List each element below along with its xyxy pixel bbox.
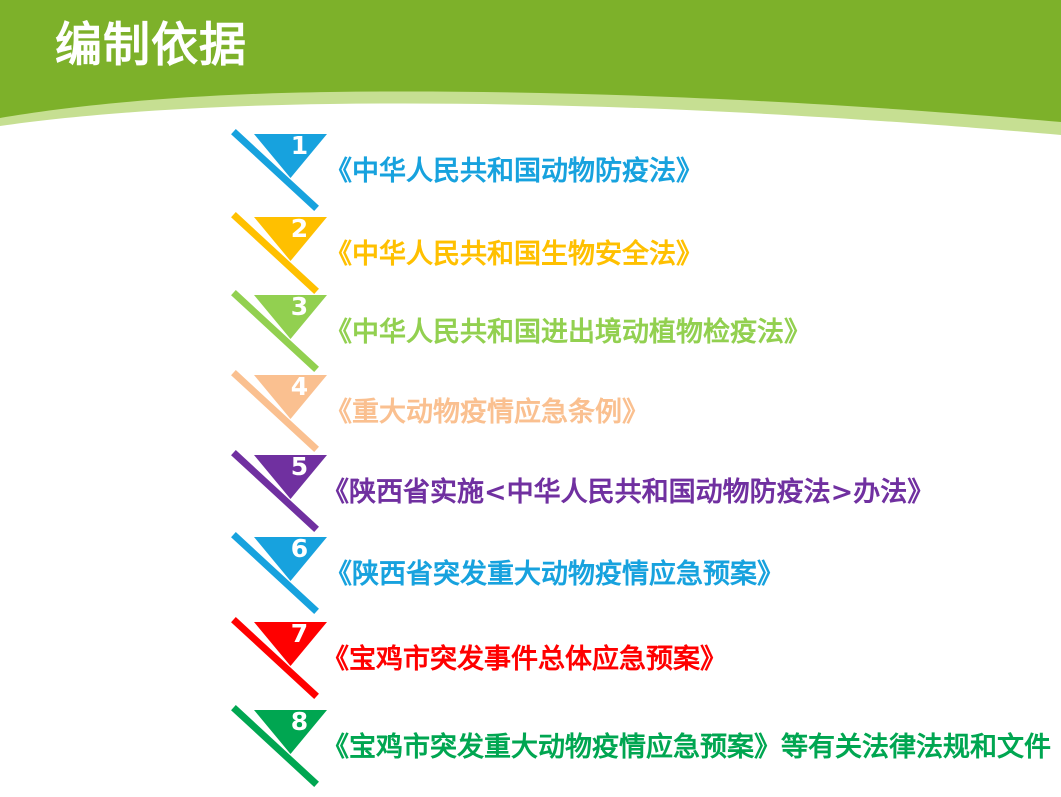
- list-item[interactable]: 5 《陕西省实施<中华人民共和国动物防疫法>办法》: [0, 451, 1061, 534]
- item-marker: 5: [228, 451, 332, 533]
- list-item[interactable]: 2 《中华人民共和国生物安全法》: [0, 213, 1061, 296]
- marker-shape: [228, 130, 332, 212]
- page-title: 编制依据: [55, 21, 247, 70]
- marker-shape: [228, 213, 332, 295]
- marker-shape: [228, 706, 332, 788]
- header-banner: 编制依据: [0, 0, 1061, 135]
- marker-shape: [228, 618, 332, 700]
- item-label: 《陕西省实施<中华人民共和国动物防疫法>办法》: [322, 478, 934, 508]
- item-marker: 6: [228, 533, 332, 615]
- list-item[interactable]: 8 《宝鸡市突发重大动物疫情应急预案》等有关法律法规和文件: [0, 706, 1061, 789]
- item-marker: 4: [228, 371, 332, 453]
- item-marker: 2: [228, 213, 332, 295]
- item-label: 《宝鸡市突发事件总体应急预案》: [322, 645, 727, 675]
- item-marker: 8: [228, 706, 332, 788]
- item-label: 《中华人民共和国进出境动植物检疫法》: [325, 318, 811, 348]
- list-item[interactable]: 7 《宝鸡市突发事件总体应急预案》: [0, 618, 1061, 701]
- item-label: 《中华人民共和国生物安全法》: [325, 240, 703, 270]
- item-label: 《宝鸡市突发重大动物疫情应急预案》等有关法律法规和文件: [322, 733, 1051, 763]
- item-marker: 3: [228, 291, 332, 373]
- item-marker: 7: [228, 618, 332, 700]
- list-item[interactable]: 4 《重大动物疫情应急条例》: [0, 371, 1061, 454]
- marker-shape: [228, 371, 332, 453]
- item-marker: 1: [228, 130, 332, 212]
- marker-shape: [228, 533, 332, 615]
- item-label: 《中华人民共和国动物防疫法》: [325, 157, 703, 187]
- slide-root: 编制依据 1 《中华人民共和国动物防疫法》 2 《中华: [0, 0, 1061, 797]
- list-item[interactable]: 6 《陕西省突发重大动物疫情应急预案》: [0, 533, 1061, 616]
- marker-shape: [228, 291, 332, 373]
- item-label: 《重大动物疫情应急条例》: [325, 398, 649, 428]
- list-item[interactable]: 1 《中华人民共和国动物防疫法》: [0, 130, 1061, 213]
- item-label: 《陕西省突发重大动物疫情应急预案》: [325, 560, 784, 590]
- reference-list: 1 《中华人民共和国动物防疫法》 2 《中华人民共和国生物安全法》: [0, 126, 1061, 797]
- list-item[interactable]: 3 《中华人民共和国进出境动植物检疫法》: [0, 291, 1061, 374]
- marker-shape: [228, 451, 332, 533]
